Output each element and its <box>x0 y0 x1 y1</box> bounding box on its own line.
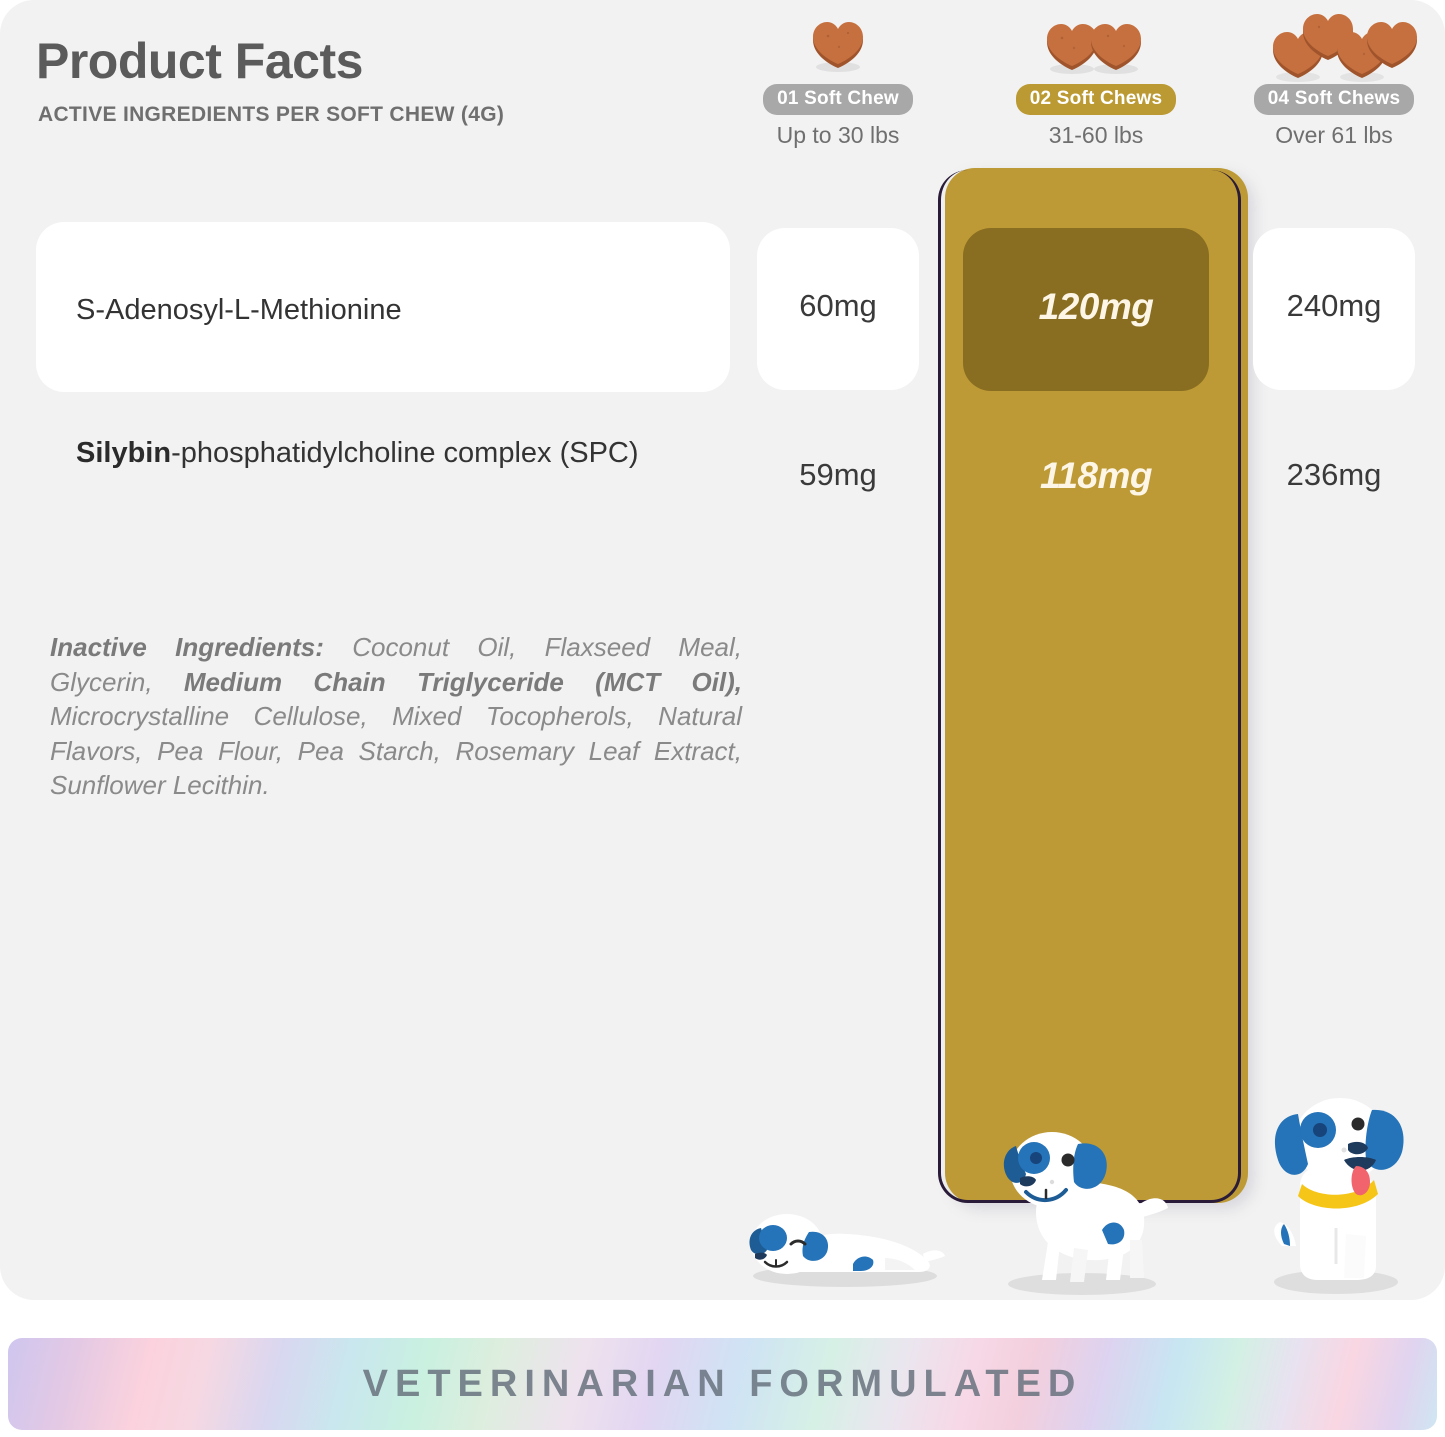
dose-value-row1-col2: 120mg <box>981 286 1211 328</box>
inactive-ingredients-text: Inactive Ingredients: Coconut Oil, Flaxs… <box>50 630 742 803</box>
small-dog-lying <box>735 1180 950 1290</box>
inactive-ingredients-bold: Medium Chain Triglyceride (MCT Oil), <box>184 667 742 697</box>
soft-chew-heart-icon <box>1364 20 1420 72</box>
dose-value-row1-col3: 240mg <box>1219 288 1445 324</box>
dose-value-row2-col3: 236mg <box>1219 457 1445 493</box>
dose-value-row2-col2: 118mg <box>981 455 1211 497</box>
ingredient-name-1: S-Adenosyl-L-Methionine <box>76 291 402 330</box>
ingredient-name-2-rest: -phosphatidylcholine complex (SPC) <box>171 437 638 469</box>
inactive-ingredients-part2: Microcrystalline Cellulose, Mixed Tocoph… <box>50 701 742 800</box>
inactive-ingredients-label: Inactive Ingredients: <box>50 632 324 662</box>
dose-value-row2-col1: 59mg <box>723 457 953 493</box>
dose-column-header-2: 02 Soft Chews 31-60 lbs <box>981 12 1211 149</box>
page-subtitle: ACTIVE INGREDIENTS PER SOFT CHEW (4G) <box>38 103 504 127</box>
soft-chew-heart-icon-group-2 <box>996 12 1196 84</box>
ingredient-name-2-bold: Silybin <box>76 437 171 469</box>
medium-dog-standing <box>990 1108 1170 1298</box>
dose-value-row1-col1: 60mg <box>723 288 953 324</box>
banner-text: VETERINARIAN FORMULATED <box>363 1363 1083 1406</box>
soft-chew-heart-icon-group-3 <box>1234 12 1434 84</box>
dose-column-header-3: 04 Soft Chews Over 61 lbs <box>1219 12 1445 149</box>
large-dog-sitting <box>1252 1068 1417 1300</box>
soft-chew-heart-icon <box>1088 22 1144 74</box>
weight-range-1: Up to 30 lbs <box>723 122 953 149</box>
product-facts-panel: Product Facts ACTIVE INGREDIENTS PER SOF… <box>0 0 1445 1300</box>
dose-badge-3: 04 Soft Chews <box>1254 84 1414 115</box>
dose-badge-2: 02 Soft Chews <box>1016 84 1176 115</box>
page-title: Product Facts <box>36 36 363 86</box>
weight-range-2: 31-60 lbs <box>981 122 1211 149</box>
ingredient-name-2: Silybin-phosphatidylcholine complex (SPC… <box>76 434 696 473</box>
dose-badge-1: 01 Soft Chew <box>763 84 913 115</box>
dose-column-header-1: 01 Soft Chew Up to 30 lbs <box>723 12 953 149</box>
weight-range-3: Over 61 lbs <box>1219 122 1445 149</box>
soft-chew-heart-icon-group-1 <box>738 12 938 84</box>
soft-chew-heart-icon <box>810 20 866 72</box>
veterinarian-formulated-banner: VETERINARIAN FORMULATED <box>8 1338 1437 1430</box>
